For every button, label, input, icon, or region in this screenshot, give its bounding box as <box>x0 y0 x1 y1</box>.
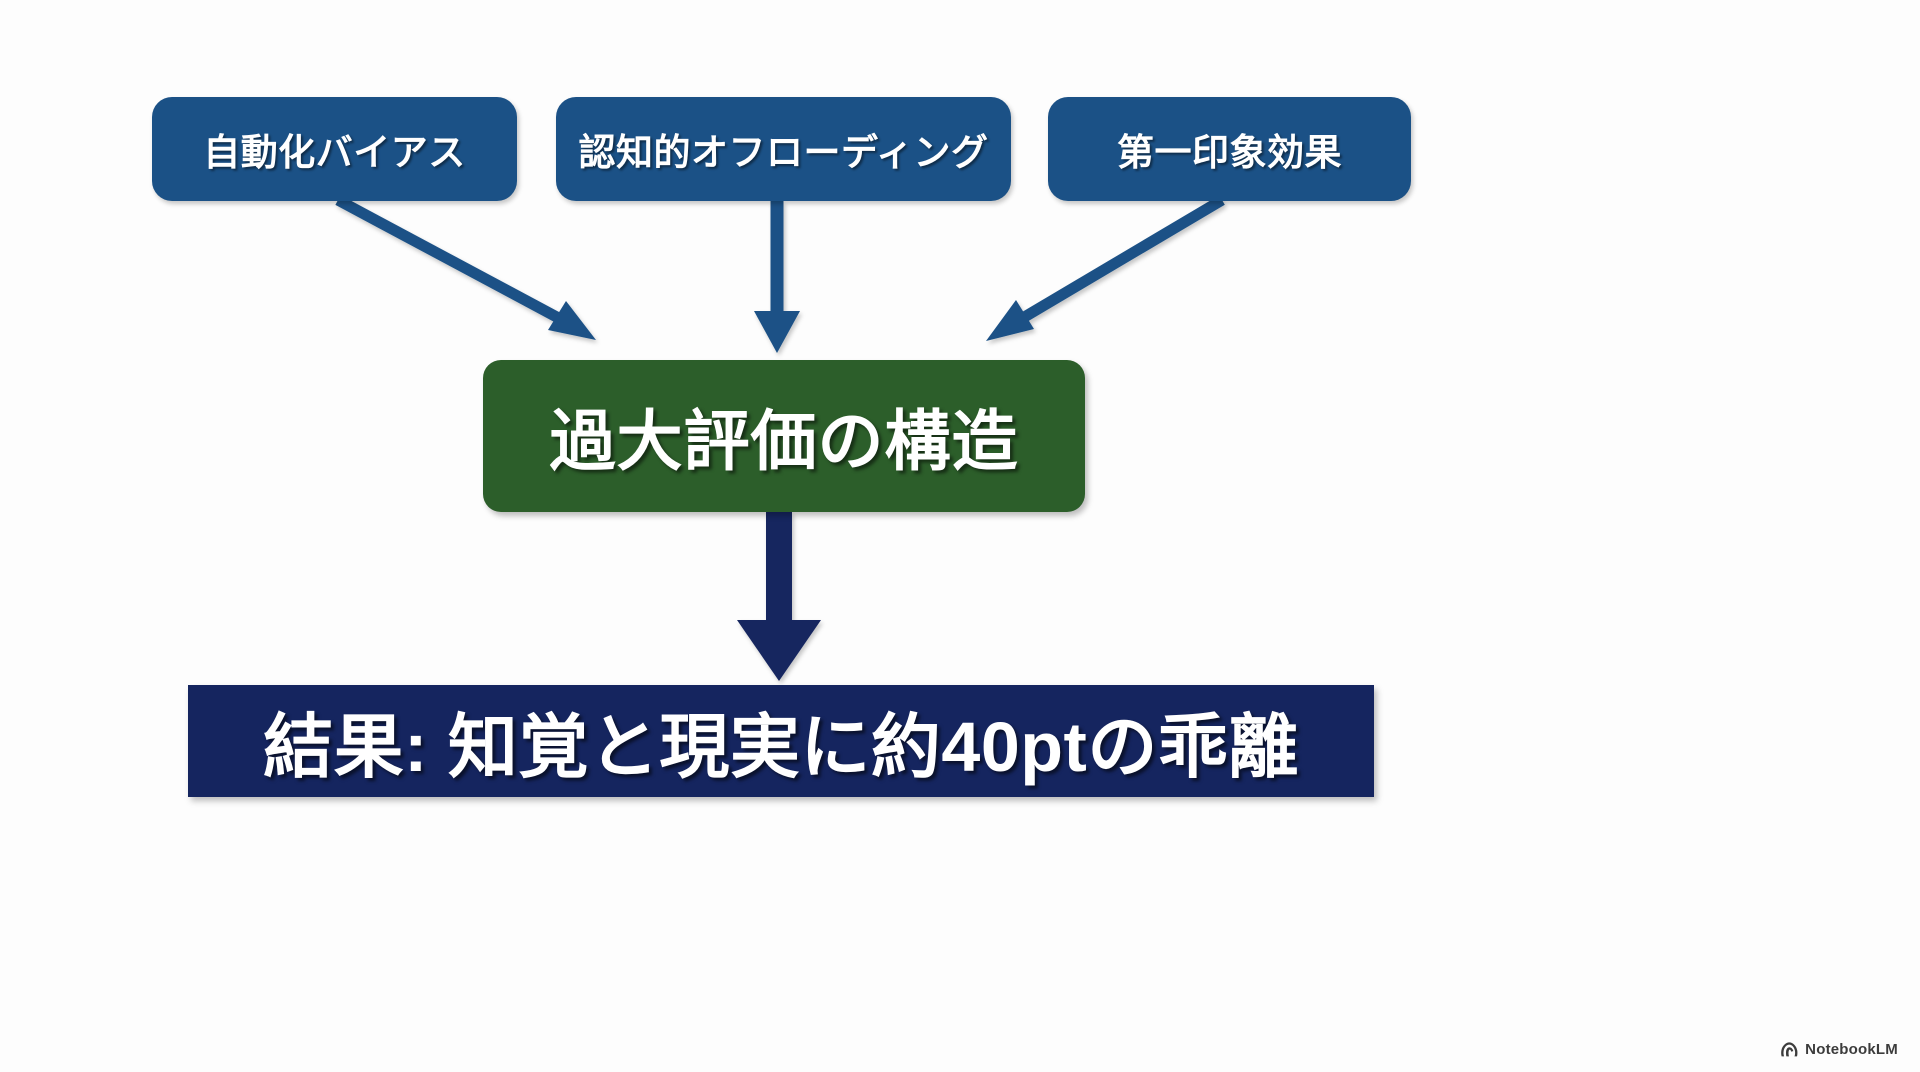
notebooklm-spiral-icon <box>1780 1041 1799 1058</box>
cause-box-automation-bias[interactable]: 自動化バイアス <box>152 97 517 201</box>
notebooklm-watermark: NotebookLM <box>1780 1041 1898 1058</box>
cause-box-first-impression[interactable]: 第一印象効果 <box>1048 97 1411 201</box>
cause-label-automation-bias: 自動化バイアス <box>203 122 466 176</box>
result-banner[interactable]: 結果: 知覚と現実に約40ptの乖離 <box>188 685 1374 797</box>
arrow-cause2-to-structure <box>754 201 800 353</box>
notebooklm-watermark-text: NotebookLM <box>1805 1041 1898 1058</box>
structure-label: 過大評価の構造 <box>550 388 1019 484</box>
arrow-structure-to-result <box>737 512 821 681</box>
cause-box-cognitive-offloading[interactable]: 認知的オフローディング <box>556 97 1011 201</box>
arrow-cause3-to-structure <box>986 200 1222 341</box>
result-label: 結果: 知覚と現実に約40ptの乖離 <box>263 691 1299 792</box>
cause-label-cognitive-offloading: 認知的オフローディング <box>579 122 989 176</box>
arrow-cause1-to-structure <box>338 200 596 340</box>
diagram-canvas: 自動化バイアス 認知的オフローディング 第一印象効果 過大評価の構造 結果: 知… <box>0 0 1920 1072</box>
cause-label-first-impression: 第一印象効果 <box>1117 122 1342 176</box>
structure-box-overestimation[interactable]: 過大評価の構造 <box>483 360 1085 512</box>
